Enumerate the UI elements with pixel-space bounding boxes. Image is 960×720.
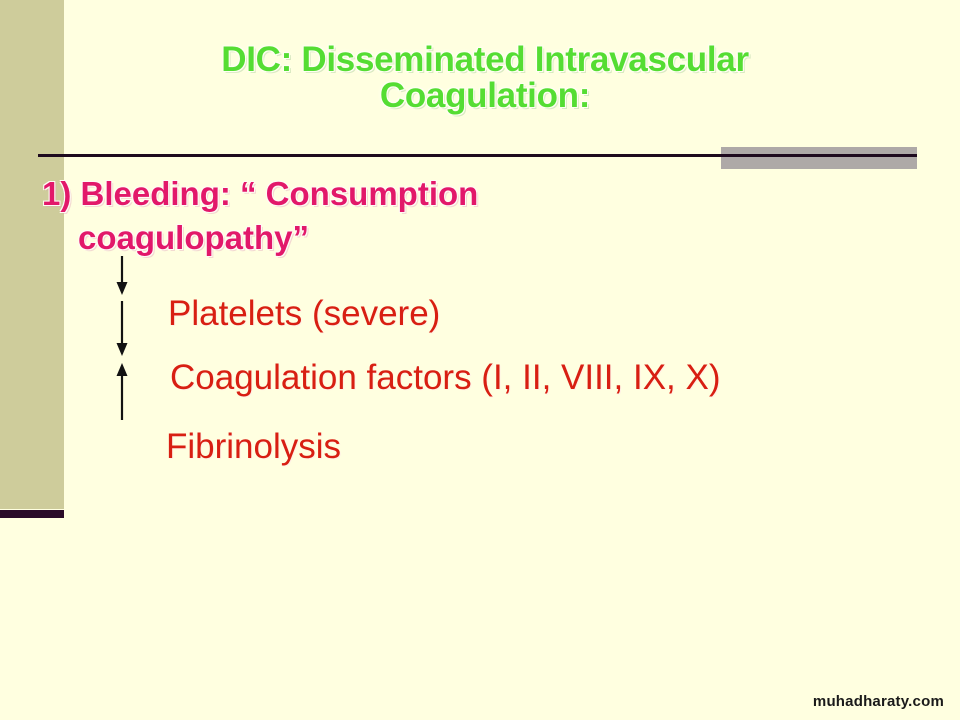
body-line-coagulation-factors: Coagulation factors (I, II, VIII, IX, X) — [170, 358, 721, 398]
down-arrow-icon-platelets — [117, 256, 128, 295]
site-watermark: muhadharaty.com — [813, 693, 944, 710]
slide-title-line-1: DIC: Disseminated Intravascular — [70, 42, 900, 78]
left-band-footer-bar — [0, 510, 64, 518]
slide-title-line-2: Coagulation: — [70, 78, 900, 114]
up-arrow-icon-fibrinolysis — [117, 363, 128, 420]
title-divider-rule — [38, 154, 917, 157]
body-line-platelets: Platelets (severe) — [168, 294, 440, 334]
down-arrow-icon-coagulation-factors — [117, 301, 128, 356]
body-line-fibrinolysis: Fibrinolysis — [166, 427, 341, 467]
title-rule-accent-block — [721, 147, 917, 169]
slide-title: DIC: Disseminated Intravascular Coagulat… — [70, 42, 900, 113]
bullet-heading: 1) Bleeding: “ Consumption coagulopathy” — [42, 172, 742, 259]
bullet-heading-line-1: 1) Bleeding: “ Consumption — [42, 175, 478, 212]
slide-canvas: DIC: Disseminated Intravascular Coagulat… — [0, 0, 960, 720]
arrow-group — [104, 252, 160, 427]
